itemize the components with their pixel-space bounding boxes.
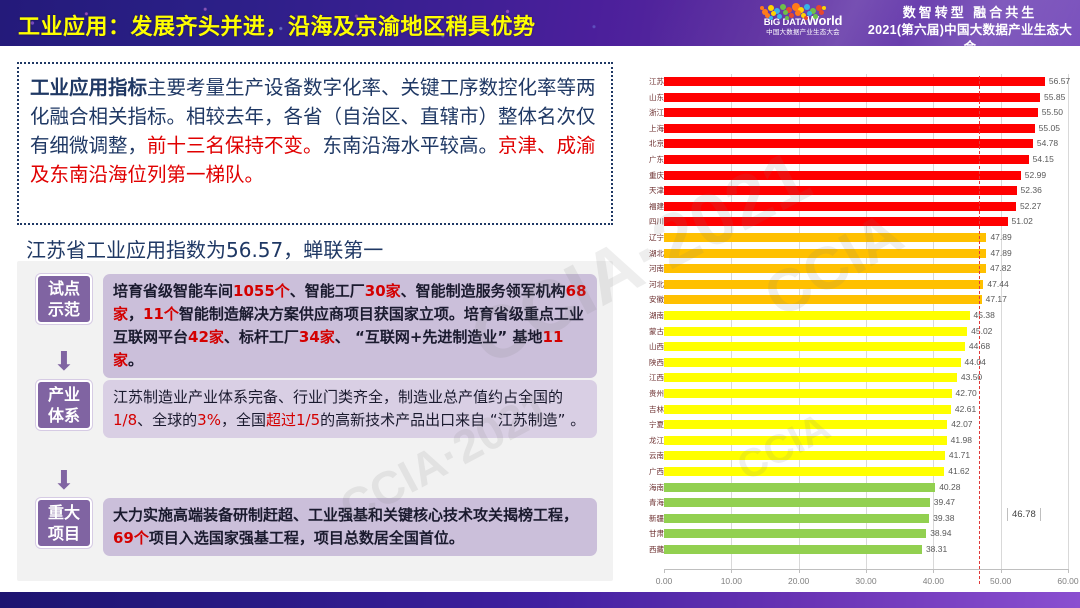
detail-tag[interactable]: 重大项目	[36, 498, 92, 548]
chart-category-label: 江苏	[640, 74, 664, 89]
chart-value-label: 47.17	[986, 292, 1007, 307]
detail-tag-line-2: 体系	[48, 405, 80, 426]
chart-category-label: 贵州	[640, 386, 664, 401]
logo-dot	[804, 16, 808, 20]
conference-line-1: 数智转型 融合共生	[866, 4, 1074, 22]
chart-bar-row[interactable]: 重庆52.99	[636, 168, 1080, 183]
chart-value-label: 41.71	[949, 448, 970, 463]
chart-value-label: 42.07	[951, 417, 972, 432]
chart-value-label: 47.89	[990, 246, 1011, 261]
page-title: 工业应用：发展齐头并进，沿海及京渝地区稍具优势	[18, 9, 536, 41]
chart-value-label: 45.38	[974, 308, 995, 323]
detail-text-segment: 项目入选国家强基工程，项目总数居全国首位。	[149, 529, 464, 547]
chart-bar[interactable]	[664, 311, 970, 320]
detail-text-segment: 、智能工厂	[290, 282, 365, 300]
chart-bar[interactable]	[664, 467, 944, 476]
detail-text-segment: 江苏制造业产业体系完备、行业门类齐全，制造业总产值约占全国的	[113, 388, 563, 406]
chart-category-label: 天津	[640, 183, 664, 198]
chart-plot-area: 0.0010.0020.0030.0040.0050.0060.00江苏56.5…	[636, 46, 1080, 592]
detail-text-segment: 42家	[188, 328, 224, 346]
chart-value-label: 54.15	[1033, 152, 1054, 167]
detail-text-segment: 、 “互联网+先进制造业” 基地	[335, 328, 543, 346]
summary-note-text: 工业应用指标主要考量生产设备数字化率、关键工序数控化率等两化融合相关指标。相较去…	[19, 64, 611, 189]
chart-bar[interactable]	[664, 342, 965, 351]
detail-tag-line-2: 示范	[48, 299, 80, 320]
x-axis-tick-label: 50.00	[990, 576, 1011, 586]
chart-category-label: 四川	[640, 214, 664, 229]
chart-value-label: 54.78	[1037, 136, 1058, 151]
chart-category-label: 辽宁	[640, 230, 664, 245]
chart-bar[interactable]	[664, 295, 982, 304]
chart-category-label: 蒙古	[640, 324, 664, 339]
chart-bar[interactable]	[664, 77, 1045, 86]
chart-bar-row[interactable]: 云南41.71	[636, 448, 1080, 463]
flow-arrow-down-icon: ⬇	[53, 470, 75, 490]
chart-bar-row[interactable]: 江苏56.57	[636, 74, 1080, 89]
chart-value-label: 55.85	[1044, 90, 1065, 105]
chart-bar-row[interactable]: 河南47.82	[636, 261, 1080, 276]
logo-dot	[783, 10, 788, 15]
chart-value-label: 52.27	[1020, 199, 1041, 214]
chart-bar[interactable]	[664, 280, 983, 289]
chart-value-label: 40.28	[939, 480, 960, 495]
detail-text-segment: 培育省级智能车间	[113, 282, 233, 300]
chart-value-label: 52.99	[1025, 168, 1046, 183]
left-content-panel: 工业应用指标主要考量生产设备数字化率、关键工序数控化率等两化融合相关指标。相较去…	[0, 46, 636, 592]
x-axis-tick-label: 10.00	[721, 576, 742, 586]
chart-value-label: 47.82	[990, 261, 1011, 276]
slide-header: 工业应用：发展齐头并进，沿海及京渝地区稍具优势 BiG DATAWorld 中国…	[0, 0, 1080, 46]
industry-application-index-chart: 0.0010.0020.0030.0040.0050.0060.00江苏56.5…	[636, 46, 1080, 592]
chart-category-label: 甘肃	[640, 526, 664, 541]
logo-dot	[769, 16, 773, 20]
chart-category-label: 宁夏	[640, 417, 664, 432]
detail-text-segment: 、标杆工厂	[224, 328, 299, 346]
chart-bar[interactable]	[664, 233, 986, 242]
x-axis-tick-label: 30.00	[855, 576, 876, 586]
chart-value-label: 47.44	[987, 277, 1008, 292]
x-axis-tick-label: 20.00	[788, 576, 809, 586]
chart-bar[interactable]	[664, 108, 1038, 117]
detail-row: 试点示范培育省级智能车间1055个、智能工厂30家、智能制造服务领军机构68家，…	[36, 274, 597, 378]
chart-bar-row[interactable]: 吉林42.61	[636, 402, 1080, 417]
note-lead: 工业应用指标	[30, 76, 147, 99]
logo-dot	[807, 11, 812, 16]
logo-dot	[760, 6, 764, 10]
detail-bubble: 培育省级智能车间1055个、智能工厂30家、智能制造服务领军机构68家，11个智…	[103, 274, 597, 378]
detail-tag-line-1: 产业	[48, 384, 80, 405]
logo-dot	[785, 16, 789, 20]
note-body-2: 东南沿海水平较高。	[323, 134, 499, 157]
detail-row: 产业体系江苏制造业产业体系完备、行业门类齐全，制造业总产值约占全国的1/8、全球…	[36, 380, 597, 438]
chart-bar[interactable]	[664, 217, 1008, 226]
chart-bar[interactable]	[664, 93, 1040, 102]
chart-category-label: 西藏	[640, 542, 664, 557]
chart-value-label: 39.47	[934, 495, 955, 510]
chart-category-label: 河北	[640, 277, 664, 292]
conference-title: 数智转型 融合共生 2021(第六届)中国大数据产业生态大会	[866, 4, 1074, 46]
chart-value-label: 55.05	[1039, 121, 1060, 136]
chart-bar[interactable]	[664, 514, 929, 523]
jiangsu-headline: 江苏省工业应用指数为56.57，蝉联第一	[26, 234, 383, 263]
logo-dot	[804, 4, 810, 10]
logo-dot	[777, 14, 782, 19]
chart-bar-row[interactable]: 四川51.02	[636, 214, 1080, 229]
chart-category-label: 陕西	[640, 355, 664, 370]
chart-bar[interactable]	[664, 358, 961, 367]
chart-value-label: 39.38	[933, 511, 954, 526]
chart-bar-row[interactable]: 安徽47.17	[636, 292, 1080, 307]
logo-dot	[813, 14, 818, 19]
chart-bar[interactable]	[664, 249, 986, 258]
chart-bar-row[interactable]: 天津52.36	[636, 183, 1080, 198]
chart-category-label: 湖南	[640, 308, 664, 323]
detail-text-segment: 30家	[365, 282, 401, 300]
chart-bar[interactable]	[664, 264, 986, 273]
chart-value-label: 44.04	[965, 355, 986, 370]
detail-text-segment: 1055个	[233, 282, 290, 300]
chart-bar-row[interactable]: 江西43.50	[636, 370, 1080, 385]
chart-bar-row[interactable]: 西藏38.31	[636, 542, 1080, 557]
summary-note-box: 工业应用指标主要考量生产设备数字化率、关键工序数控化率等两化融合相关指标。相较去…	[17, 62, 613, 225]
logo-brand-world: World	[807, 13, 843, 28]
x-axis-tick-label: 0.00	[656, 576, 673, 586]
chart-bar-row[interactable]: 辽宁47.89	[636, 230, 1080, 245]
chart-category-label: 新疆	[640, 511, 664, 526]
logo-dot	[819, 10, 824, 15]
chart-value-label: 38.94	[930, 526, 951, 541]
chart-value-label: 41.98	[951, 433, 972, 448]
chart-bar[interactable]	[664, 155, 1029, 164]
chart-value-label: 47.89	[990, 230, 1011, 245]
chart-bar[interactable]	[664, 420, 947, 429]
detail-text-segment: 34家	[299, 328, 335, 346]
logo-dots-icon	[760, 3, 846, 15]
detail-text-segment: 69个	[113, 529, 149, 547]
slide-footer	[0, 592, 1080, 608]
chart-bar[interactable]	[664, 171, 1021, 180]
chart-bar-row[interactable]: 山东55.85	[636, 90, 1080, 105]
x-axis-line	[664, 569, 1068, 570]
bigdata-world-logo: BiG DATAWorld 中国大数据产业生态大会	[760, 3, 846, 43]
chart-category-label: 青海	[640, 495, 664, 510]
chart-bar[interactable]	[664, 436, 947, 445]
chart-category-label: 云南	[640, 448, 664, 463]
chart-category-label: 江西	[640, 370, 664, 385]
note-highlight-1: 前十三名保持不变。	[147, 134, 323, 157]
detail-text-segment: 。	[128, 351, 143, 369]
chart-bar[interactable]	[664, 186, 1017, 195]
chart-bar-row[interactable]: 贵州42.70	[636, 386, 1080, 401]
chart-value-label: 55.50	[1042, 105, 1063, 120]
chart-bar[interactable]	[664, 327, 967, 336]
chart-category-label: 吉林	[640, 402, 664, 417]
chart-value-label: 45.02	[971, 324, 992, 339]
chart-bar-row[interactable]: 山西44.68	[636, 339, 1080, 354]
chart-value-label: 56.57	[1049, 74, 1070, 89]
chart-reference-line	[979, 76, 980, 584]
chart-bar[interactable]	[664, 529, 926, 538]
detail-text-segment: ，全国	[221, 411, 266, 429]
chart-bar-row[interactable]: 湖北47.89	[636, 246, 1080, 261]
detail-tag-line-2: 项目	[48, 523, 80, 544]
logo-dot	[789, 13, 794, 18]
chart-value-label: 42.61	[955, 402, 976, 417]
chart-bar[interactable]	[664, 389, 952, 398]
detail-text-segment: 3%	[197, 411, 221, 429]
chart-category-label: 福建	[640, 199, 664, 214]
chart-value-label: 51.02	[1012, 214, 1033, 229]
chart-bar[interactable]	[664, 498, 930, 507]
chart-bar-row[interactable]: 甘肃38.94	[636, 526, 1080, 541]
detail-tag[interactable]: 产业体系	[36, 380, 92, 430]
chart-bar[interactable]	[664, 483, 935, 492]
chart-category-label: 上海	[640, 121, 664, 136]
detail-text-segment: 大力实施高端装备研制赶超、工业强基和关键核心技术攻关揭榜工程，	[113, 506, 578, 524]
detail-text-segment: 的高新技术产品出口来自 “江苏制造” 。	[320, 411, 585, 429]
detail-row: 重大项目大力实施高端装备研制赶超、工业强基和关键核心技术攻关揭榜工程，69个项目…	[36, 498, 597, 556]
detail-tag[interactable]: 试点示范	[36, 274, 92, 324]
chart-bar-row[interactable]: 北京54.78	[636, 136, 1080, 151]
detail-bubble: 大力实施高端装备研制赶超、工业强基和关键核心技术攻关揭榜工程，69个项目入选国家…	[103, 498, 597, 556]
chart-bar-row[interactable]: 河北47.44	[636, 277, 1080, 292]
chart-category-label: 河南	[640, 261, 664, 276]
chart-bar-row[interactable]: 龙江41.98	[636, 433, 1080, 448]
x-axis-tick-label: 40.00	[923, 576, 944, 586]
detail-text-segment: 、智能制造服务领军机构	[401, 282, 566, 300]
chart-category-label: 山西	[640, 339, 664, 354]
logo-brand-cn: 中国大数据产业生态大会	[760, 28, 846, 37]
chart-category-label: 山东	[640, 90, 664, 105]
chart-value-label: 52.36	[1021, 183, 1042, 198]
detail-tag-line-1: 试点	[48, 278, 80, 299]
chart-bar-row[interactable]: 陕西44.04	[636, 355, 1080, 370]
detail-text-segment: 11个	[143, 305, 179, 323]
detail-tag-line-1: 重大	[48, 502, 80, 523]
chart-bar-row[interactable]: 宁夏42.07	[636, 417, 1080, 432]
chart-category-label: 北京	[640, 136, 664, 151]
chart-category-label: 重庆	[640, 168, 664, 183]
chart-reference-label: 46.78	[1007, 508, 1041, 521]
chart-bar-row[interactable]: 蒙古45.02	[636, 324, 1080, 339]
chart-category-label: 海南	[640, 480, 664, 495]
chart-bar[interactable]	[664, 451, 945, 460]
chart-category-label: 安徽	[640, 292, 664, 307]
logo-dot	[822, 6, 826, 10]
chart-value-label: 42.70	[956, 386, 977, 401]
chart-bar[interactable]	[664, 405, 951, 414]
chart-category-label: 广东	[640, 152, 664, 167]
chart-bar-row[interactable]: 湖南45.38	[636, 308, 1080, 323]
chart-bar-row[interactable]: 浙江55.50	[636, 105, 1080, 120]
chart-category-label: 广西	[640, 464, 664, 479]
chart-bar-row[interactable]: 上海55.05	[636, 121, 1080, 136]
chart-bar[interactable]	[664, 373, 957, 382]
chart-category-label: 湖北	[640, 246, 664, 261]
detail-text-segment: 、全球的	[137, 411, 197, 429]
chart-value-label: 41.62	[948, 464, 969, 479]
detail-bubble: 江苏制造业产业体系完备、行业门类齐全，制造业总产值约占全国的1/8、全球的3%，…	[103, 380, 597, 438]
chart-category-label: 龙江	[640, 433, 664, 448]
chart-bar[interactable]	[664, 202, 1016, 211]
x-axis-tick	[1068, 569, 1069, 573]
chart-bar[interactable]	[664, 139, 1033, 148]
chart-value-label: 38.31	[926, 542, 947, 557]
flow-arrow-down-icon: ⬇	[53, 351, 75, 371]
chart-bar-row[interactable]: 福建52.27	[636, 199, 1080, 214]
detail-text-segment: ，	[128, 305, 143, 323]
chart-bar-row[interactable]: 广东54.15	[636, 152, 1080, 167]
chart-bar-row[interactable]: 广西41.62	[636, 464, 1080, 479]
chart-bar-row[interactable]: 海南40.28	[636, 480, 1080, 495]
chart-category-label: 浙江	[640, 105, 664, 120]
x-axis-tick-label: 60.00	[1057, 576, 1078, 586]
detail-text-segment: 超过1/5	[266, 411, 320, 429]
detail-text-segment: 1/8	[113, 411, 137, 429]
conference-line-2: 2021(第六届)中国大数据产业生态大会	[866, 22, 1074, 46]
chart-bar[interactable]	[664, 545, 922, 554]
